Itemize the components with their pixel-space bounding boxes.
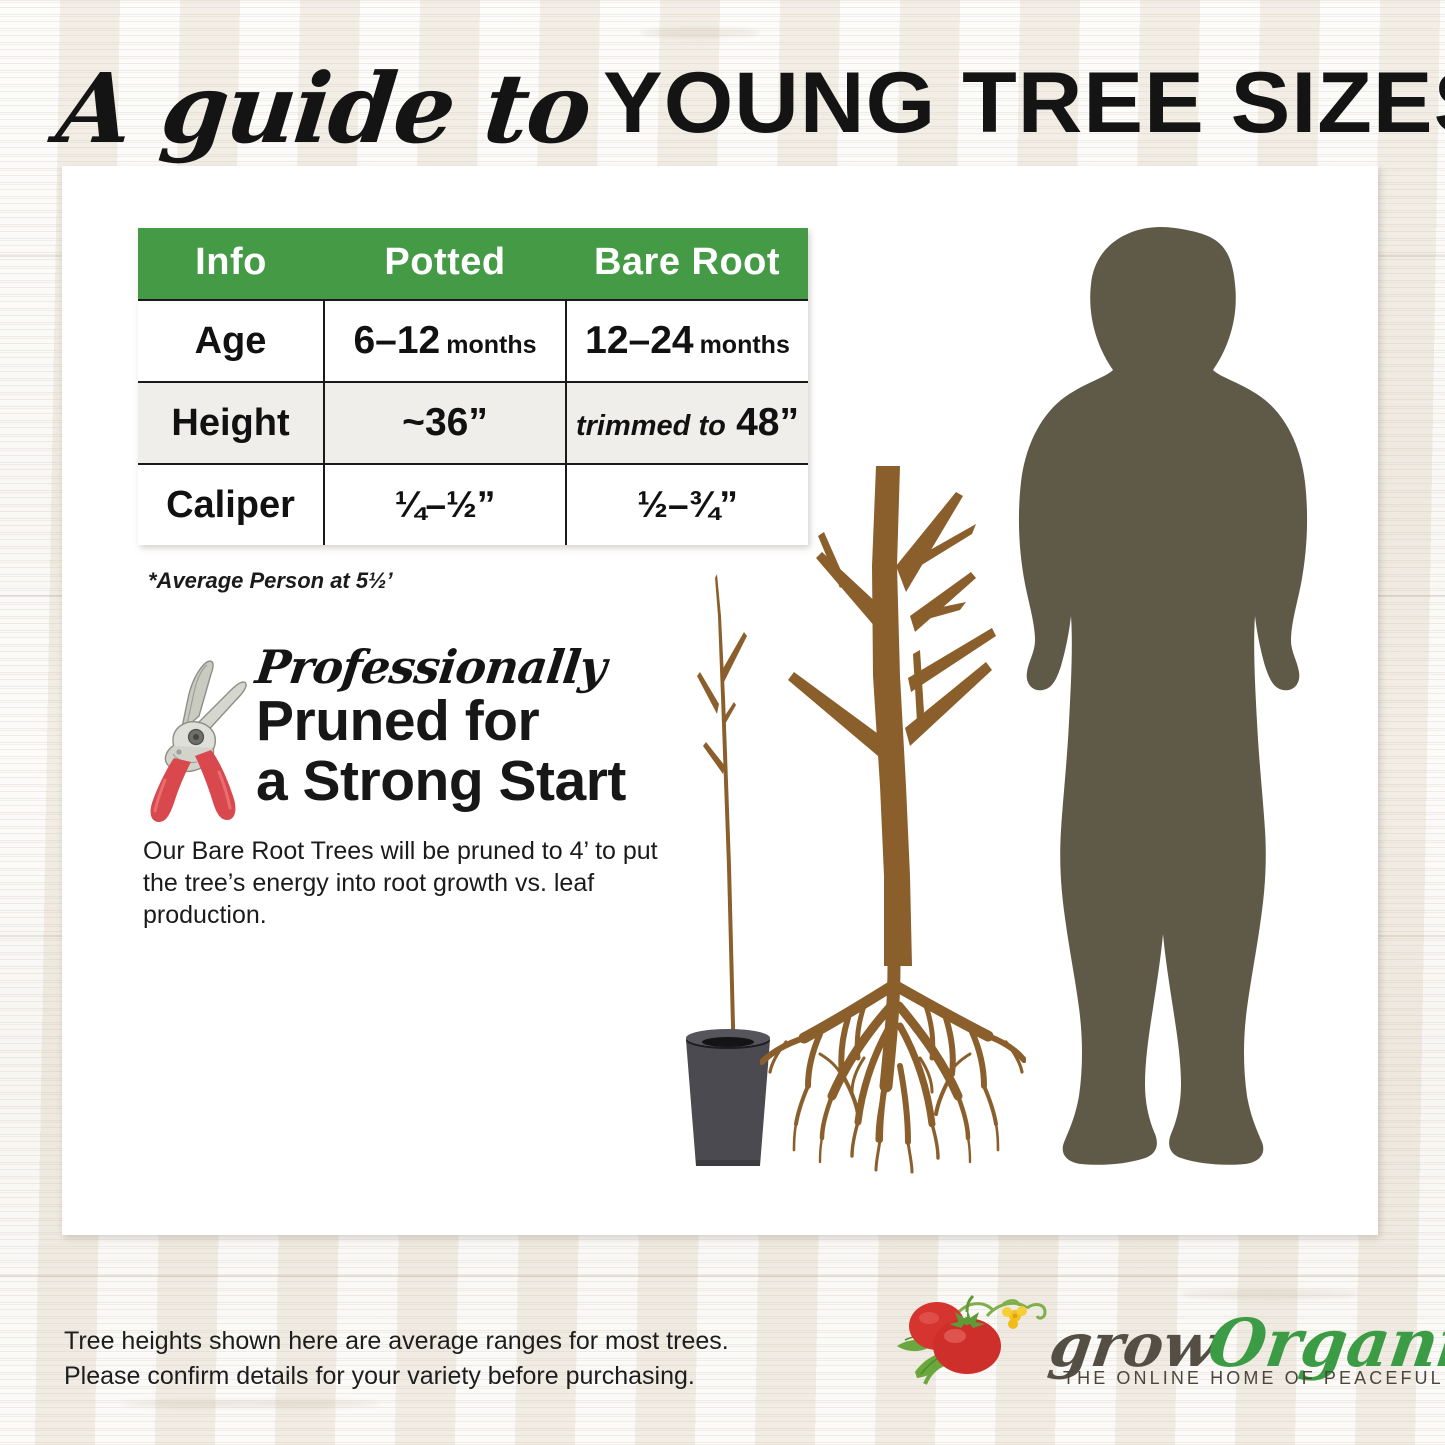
pruned-body-line-1: Our Bare Root Trees will be pruned to 4’…	[143, 836, 683, 868]
cell-height-potted: ~36”	[324, 382, 566, 464]
page-title-block: YOUNG TREE SIZES	[603, 54, 1445, 153]
page-title-script: A guide to	[52, 52, 595, 165]
table-footnote: *Average Person at 5½’	[148, 568, 393, 594]
row-label-age: Age	[138, 300, 324, 382]
disclaimer-line-2: Please confirm details for your variety …	[64, 1359, 729, 1394]
logo-tagline: THE ONLINE HOME OF PEACEFUL VALLEY	[1063, 1368, 1445, 1389]
cell-caliper-potted: ¼–½”	[324, 464, 566, 545]
pruned-script-line: Professionally	[253, 644, 608, 690]
pruned-bold-line-1: Pruned for	[256, 692, 696, 750]
pruned-headline: Professionally Pruned for a Strong Start	[256, 644, 696, 810]
table-header-potted: Potted	[324, 228, 566, 300]
wood-knot	[120, 1400, 380, 1408]
table-header-row: Info Potted Bare Root	[138, 228, 808, 300]
pruned-bold-line-2: a Strong Start	[256, 752, 696, 810]
row-label-height: Height	[138, 382, 324, 464]
grow-organic-logo[interactable]: growOrganic.COM THE ONLINE HOME OF PEACE…	[895, 1294, 1405, 1409]
cell-age-bareroot: 12–24months	[566, 300, 808, 382]
table-row: Height ~36” trimmed to 48”	[138, 382, 808, 464]
disclaimer-text: Tree heights shown here are average rang…	[64, 1324, 729, 1394]
tomato-icon	[895, 1294, 1055, 1394]
pruning-shears-icon	[143, 654, 263, 834]
table-header-bareroot: Bare Root	[566, 228, 808, 300]
table-header-info: Info	[138, 228, 324, 300]
page-title: A guide toYOUNG TREE SIZES	[58, 52, 1398, 160]
infographic-card: Info Potted Bare Root Age 6–12months 12–…	[62, 166, 1378, 1235]
row-label-caliper: Caliper	[138, 464, 324, 545]
person-silhouette-illustration	[977, 222, 1337, 1186]
pruned-body-line-2: the tree’s energy into root growth vs. l…	[143, 868, 683, 932]
wood-knot	[640, 28, 760, 38]
cell-age-potted: 6–12months	[324, 300, 566, 382]
table-row: Age 6–12months 12–24months	[138, 300, 808, 382]
disclaimer-line-1: Tree heights shown here are average rang…	[64, 1324, 729, 1359]
pruned-body-text: Our Bare Root Trees will be pruned to 4’…	[143, 836, 683, 931]
flower-icon	[1002, 1306, 1027, 1329]
